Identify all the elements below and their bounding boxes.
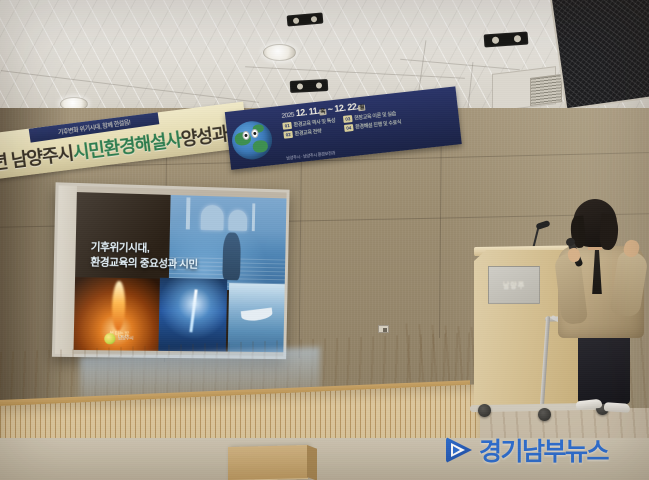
boat-shape <box>240 308 272 323</box>
slide-logo: 남양주시 <box>104 333 134 344</box>
watermark: 경기남부뉴스 <box>446 432 608 468</box>
banner-year: 2025 <box>281 112 294 120</box>
slide-photo-storm <box>159 277 227 351</box>
speaker-trousers <box>578 332 630 404</box>
wooden-step-box <box>228 445 308 480</box>
banner-item-number: 04 <box>344 124 354 132</box>
photo-scene: 기후변화 위기시대, 함께 한걸음! 5년 남양주시시민환경해설사양성과정 20… <box>0 0 649 480</box>
presentation-slide: 불 타는 밤 기후위기시대, 환경교육의 중요성과 시민 남양주시 <box>74 192 287 352</box>
slide-logo-mark-icon <box>104 333 115 344</box>
basilica-dome <box>200 205 224 230</box>
banner-item-number: 02 <box>283 131 293 139</box>
banner-date-sep: ~ <box>327 104 333 114</box>
speaker-shoe <box>604 402 631 413</box>
banner-list-column-right: 03 현장교육 이론 및 실습 04 환경해설 진행 및 수료식 <box>343 110 402 132</box>
banner-date-end-day: 월 <box>358 105 365 112</box>
slide-logo-text: 남양주시 <box>118 336 134 342</box>
slide-title: 기후위기시대, 환경교육의 중요성과 시민 <box>90 240 198 273</box>
air-vent-icon <box>530 74 562 106</box>
banner-date-end: 12. 22. <box>334 101 359 114</box>
speaker-person <box>556 196 648 416</box>
banner-title-part-1: 5년 남양주시 <box>0 143 74 174</box>
basilica-dome <box>228 210 247 231</box>
downlight-icon <box>263 44 296 61</box>
banner-date-start-day: 목 <box>319 109 326 116</box>
banner-item-text: 환경교육 전략 <box>294 128 322 138</box>
news-logo-icon <box>446 437 472 463</box>
screen-surface: 불 타는 밤 기후위기시대, 환경교육의 중요성과 시민 남양주시 <box>55 185 287 356</box>
banner-list-column-left: 01 환경교육 역사 및 특성 02 환경교육 전략 <box>282 117 336 139</box>
banner-item-number: 03 <box>343 115 353 123</box>
wall-outlet-icon <box>378 325 389 333</box>
banner-yellow-panel: 기후변화 위기시대, 함께 한걸음! 5년 남양주시시민환경해설사양성과정 <box>0 102 249 180</box>
banner-title-part-2: 시민환경해설사 <box>72 130 183 163</box>
watermark-text: 경기남부뉴스 <box>479 432 608 468</box>
basilica-spire <box>186 197 190 229</box>
podium-plaque: 남양주 <box>488 266 540 304</box>
projection-screen: 불 타는 밤 기후위기시대, 환경교육의 중요성과 시민 남양주시 <box>52 182 290 359</box>
caster-wheel-icon <box>478 404 491 417</box>
speaker-shoe <box>576 399 603 411</box>
caster-wheel-icon <box>538 408 551 421</box>
basilica-spire <box>251 203 255 231</box>
flame-shape <box>112 281 126 332</box>
ceiling-grille-panel <box>552 0 649 108</box>
slide-title-line-2: 환경교육의 중요성과 시민 <box>90 255 198 273</box>
lightning-bolt <box>189 290 197 332</box>
spotlight-fixture-icon <box>290 79 329 93</box>
podium-plaque-text: 남양주 <box>503 280 525 290</box>
banner-item-number: 01 <box>282 122 292 130</box>
person-silhouette <box>223 232 241 281</box>
banner-date-start: 12. 11. <box>295 106 319 119</box>
